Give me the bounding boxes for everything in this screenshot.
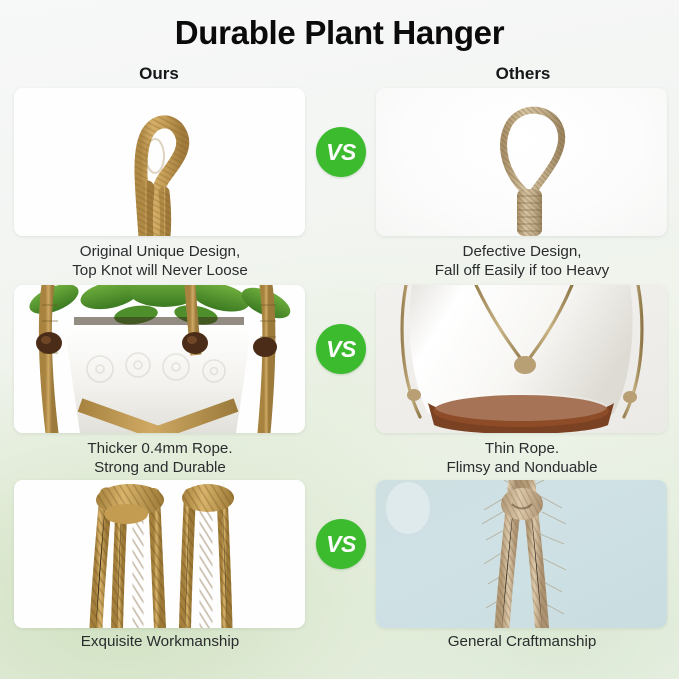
rope-loop-thick-photo [14,88,305,236]
vs-badge-row-craft: VS [316,519,366,569]
knot [623,391,637,403]
neat-rope-strands-illustration [14,480,305,628]
caption-others-craft: General Craftmanship [372,632,672,651]
thin-string-planter-illustration [376,285,667,433]
vs-badge-row-knot: VS [316,127,366,177]
knot-cluster [96,484,234,524]
product-image-card-ours-rope [14,285,305,433]
thin-rope-loop-illustration [376,88,667,236]
wood-bead [253,337,277,357]
caption-others-rope: Thin Rope. Flimsy and Nonduable [372,439,672,477]
foliage [25,285,294,329]
neat-rope-strands-photo [14,480,305,628]
frayed-jute-photo [376,480,667,628]
caption-ours-rope: Thicker 0.4mm Rope. Strong and Durable [10,439,310,477]
product-image-card-ours-craft [14,480,305,628]
vs-badge-label: VS [326,141,356,164]
vs-badge-label: VS [326,533,356,556]
product-image-card-others-craft [376,480,667,628]
vs-badge-row-rope: VS [316,324,366,374]
strand-group-right [185,494,227,628]
column-header-ours: Ours [79,64,239,84]
caption-ours-craft: Exquisite Workmanship [10,632,310,651]
product-image-card-ours-knot [14,88,305,236]
caption-others-knot: Defective Design, Fall off Easily if too… [372,242,672,280]
product-image-card-others-rope [376,285,667,433]
column-header-others: Others [443,64,603,84]
comparison-infographic: Durable Plant Hanger Ours Others [0,0,679,679]
thin-string-planter-photo [376,285,667,433]
product-image-card-others-knot [376,88,667,236]
knot [407,389,421,401]
caption-ours-knot: Original Unique Design, Top Knot will Ne… [10,242,310,280]
page-title: Durable Plant Hanger [0,14,679,52]
macrame-planter-photo [14,285,305,433]
knot [514,356,536,374]
thick-rope-loop-illustration [14,88,305,236]
frayed-jute-illustration [376,480,667,628]
macrame-planter-illustration [14,285,305,433]
vs-badge-label: VS [326,338,356,361]
rope-loop-thin-photo [376,88,667,236]
